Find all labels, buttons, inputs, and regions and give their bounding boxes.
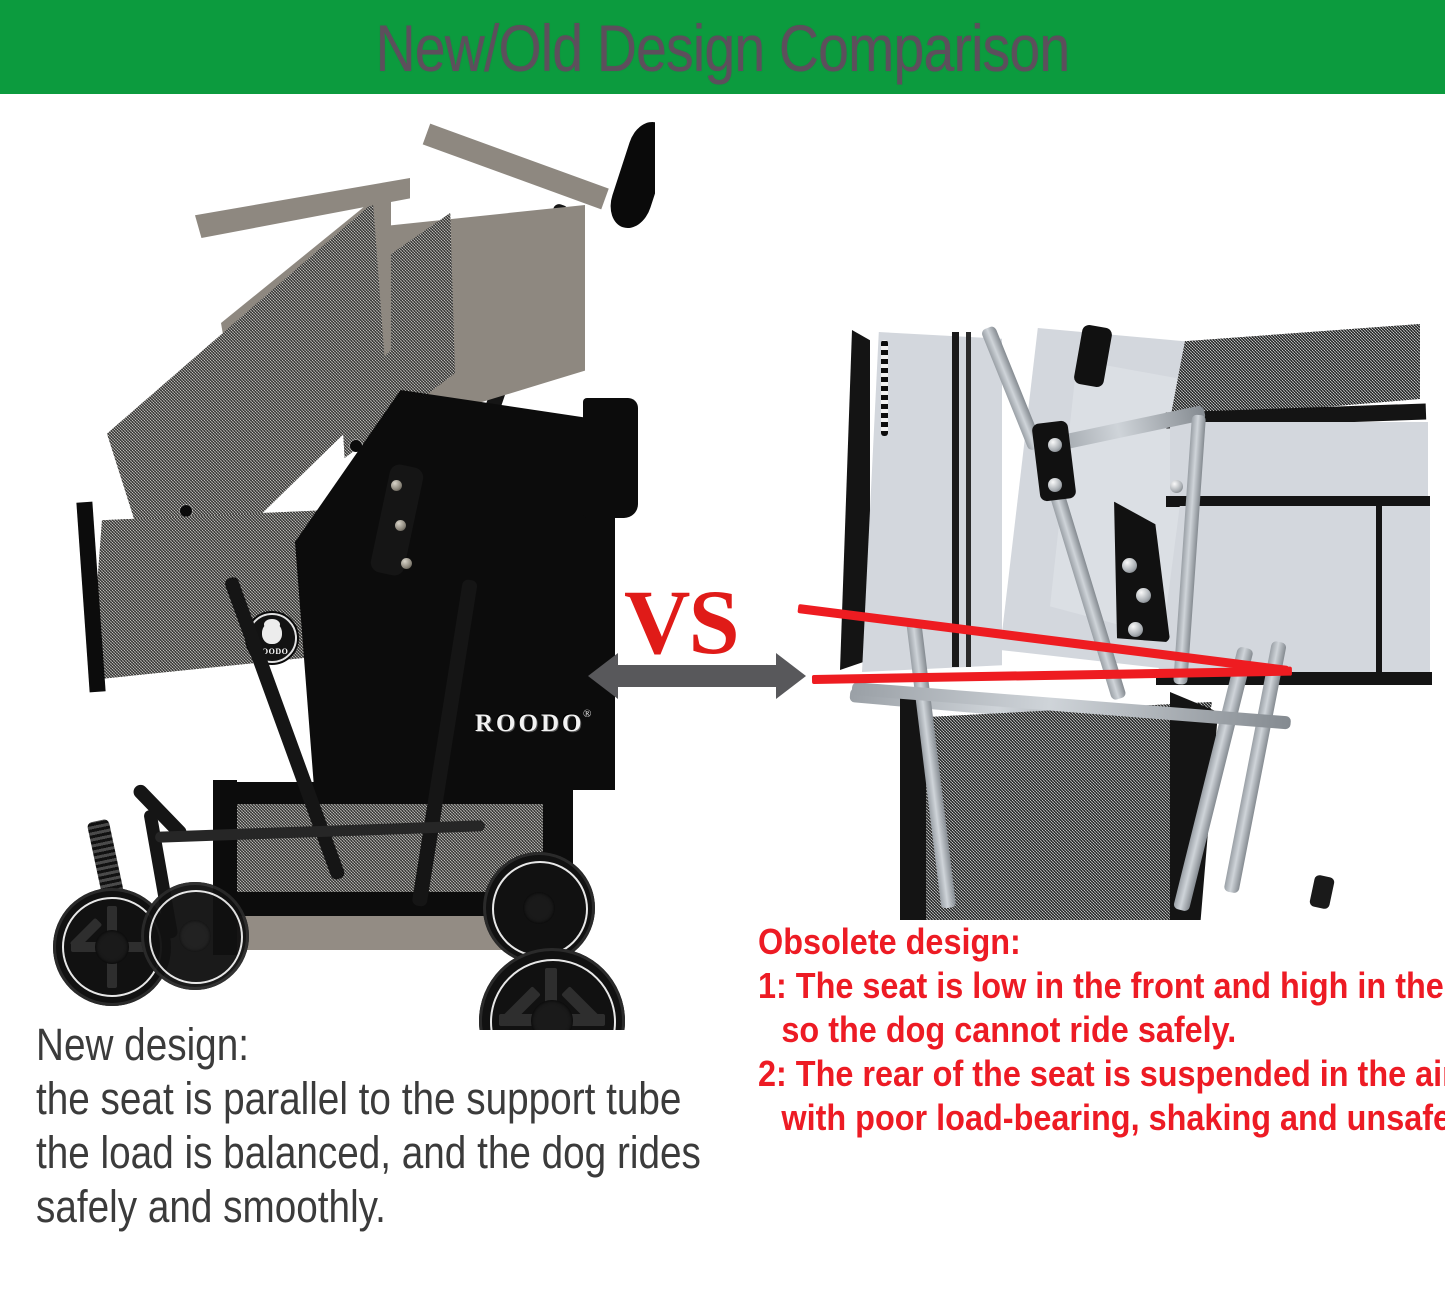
obsolete-design-caption: Obsolete design: 1: The seat is low in t… <box>758 920 1388 1140</box>
rear-wheel-far <box>483 852 595 964</box>
arrow-head-left <box>588 653 618 699</box>
arrow-head-right <box>776 653 806 699</box>
latch-screw-1 <box>1122 558 1137 573</box>
side-pocket-flap <box>1170 422 1428 500</box>
comparison-infographic: New/Old Design Comparison ROODO ® ROO <box>0 0 1445 1304</box>
latch-screw-3 <box>1128 622 1143 637</box>
new-design-product-photo: ROODO ® ROODO <box>35 110 655 1030</box>
new-design-caption-line-3: safely and smoothly. <box>36 1180 655 1234</box>
obsolete-design-caption-line-2: so the dog cannot ride safely. <box>758 1008 1388 1052</box>
canopy-panel-rear <box>423 124 609 210</box>
rear-leg-foot <box>1309 874 1335 909</box>
left-wall-zipper <box>952 332 959 667</box>
obsolete-design-caption-line-4: with poor load-bearing, shaking and unsa… <box>758 1096 1388 1140</box>
side-pocket-flap-trim <box>1166 496 1430 507</box>
new-design-caption-line-2: the load is balanced, and the dog rides <box>36 1126 655 1180</box>
front-wheel-hub <box>95 930 129 964</box>
front-wheel-twin <box>141 882 249 990</box>
side-pocket-seam <box>1376 506 1382 681</box>
new-design-caption-line-1: the seat is parallel to the support tube <box>36 1072 655 1126</box>
hinge-screw-1 <box>1048 438 1062 452</box>
rear-pocket <box>583 398 638 518</box>
side-pocket-snap <box>1170 480 1183 493</box>
handle-grip <box>604 117 655 234</box>
latch-screw-2 <box>1136 588 1151 603</box>
new-design-caption: New design: the seat is parallel to the … <box>36 1018 655 1234</box>
obsolete-design-caption-heading: Obsolete design: <box>758 920 1388 964</box>
joint-rivet-3 <box>401 558 412 569</box>
basket-top-rail <box>220 782 570 806</box>
brand-wordmark: ROODO <box>475 710 584 738</box>
joint-rivet-1 <box>391 480 402 491</box>
arrow-shaft <box>616 665 784 687</box>
left-wall-snap <box>881 340 888 436</box>
canopy-snap-1 <box>180 505 192 517</box>
page-title: New/Old Design Comparison <box>116 2 1330 94</box>
joint-rivet-2 <box>395 520 406 531</box>
obsolete-design-caption-line-1: 1: The seat is low in the front and high… <box>758 964 1388 1008</box>
brand-registered-mark: ® <box>583 708 591 720</box>
vs-label: VS <box>624 576 738 668</box>
hinge-screw-2 <box>1048 478 1062 492</box>
left-wall-zipper-2 <box>966 332 971 667</box>
obsolete-design-caption-line-3: 2: The rear of the seat is suspended in … <box>758 1052 1388 1096</box>
lower-basket-mesh <box>912 702 1212 920</box>
dog-silhouette-icon <box>262 622 282 644</box>
new-design-caption-heading: New design: <box>36 1018 655 1072</box>
header-banner: New/Old Design Comparison <box>0 0 1445 94</box>
